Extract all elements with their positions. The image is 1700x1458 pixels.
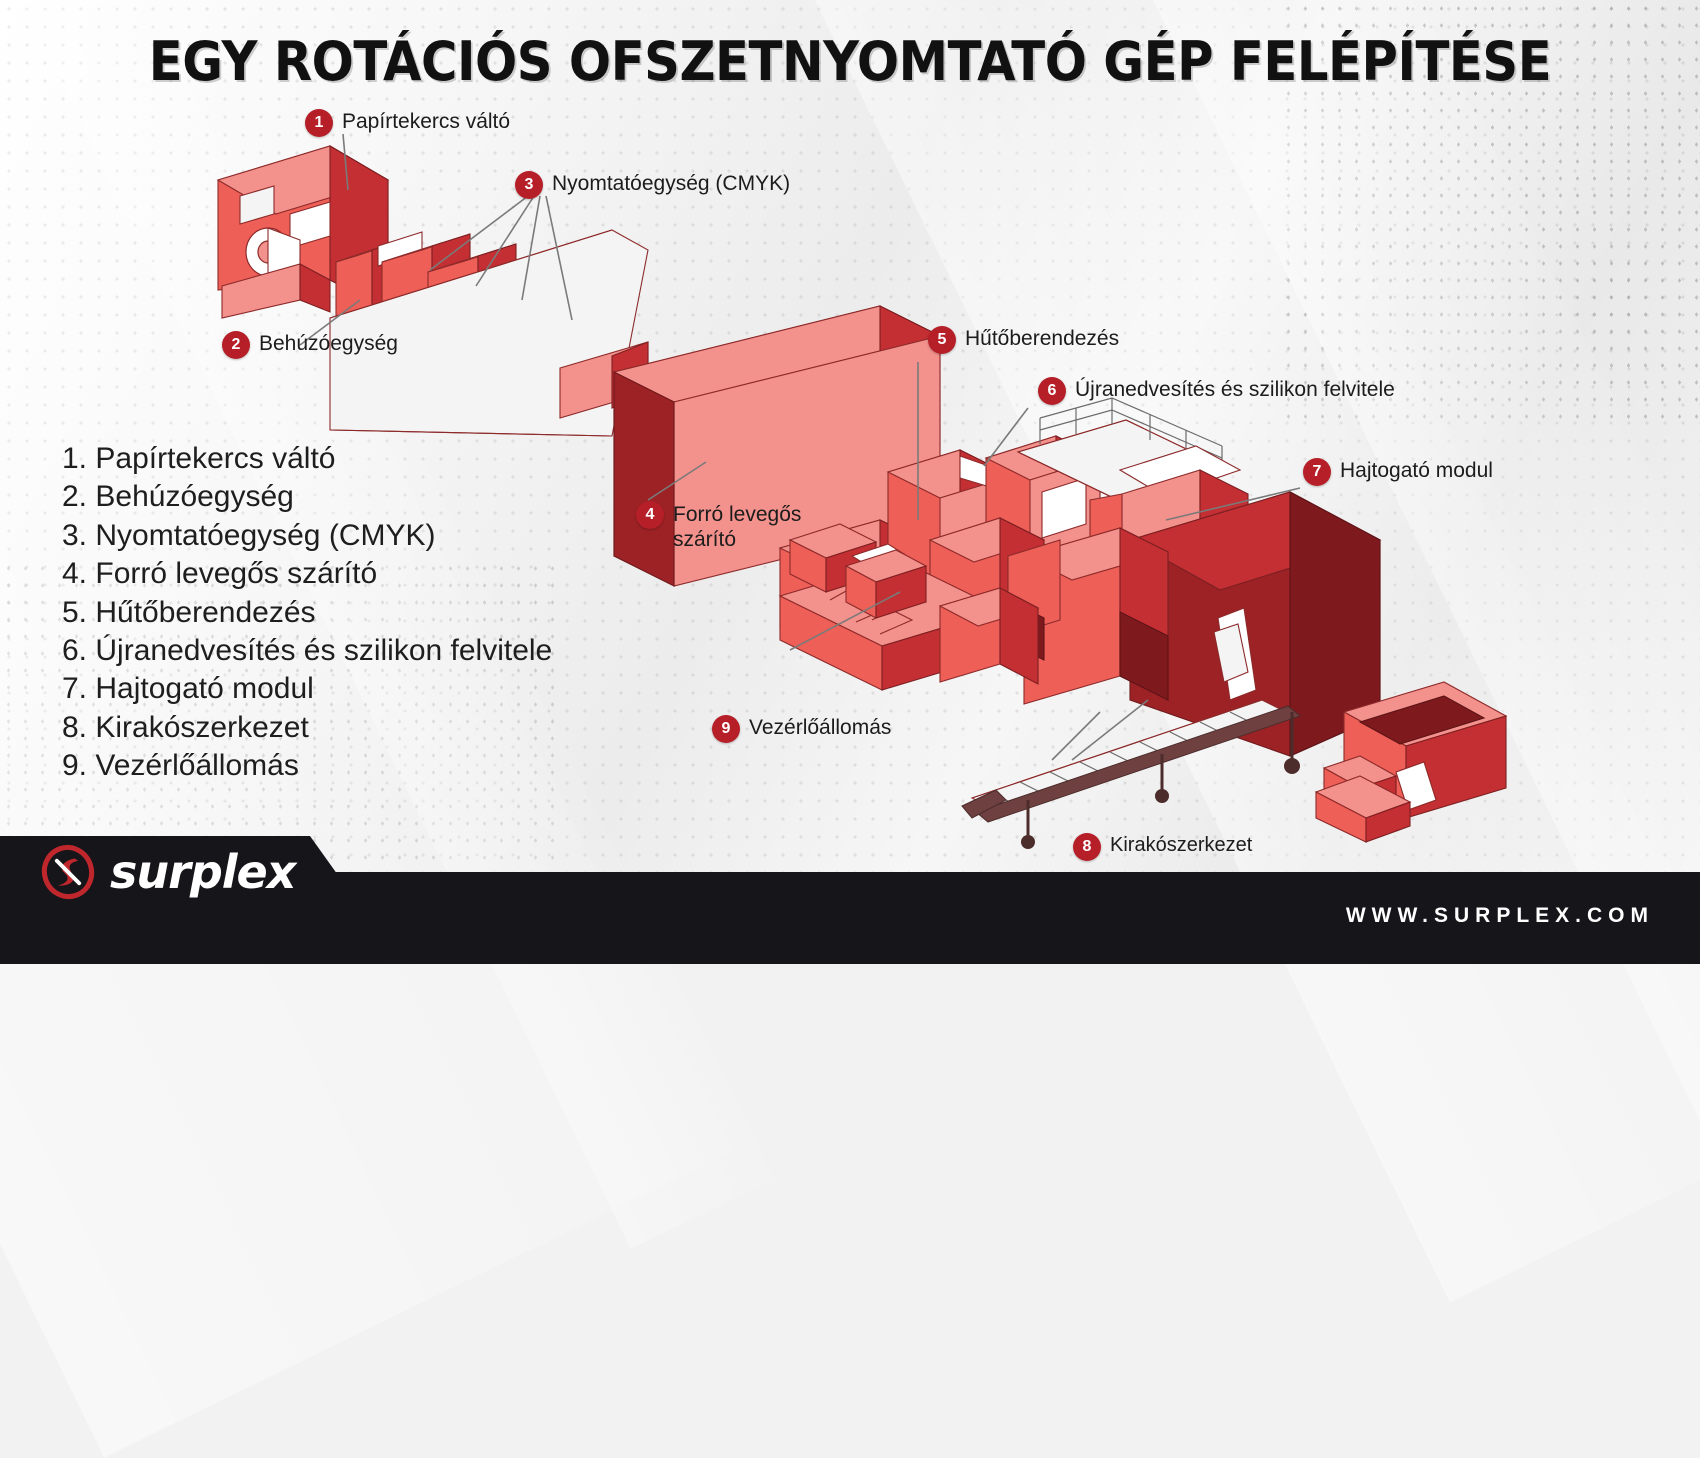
callout-1-label: Papírtekercs váltó xyxy=(342,108,510,134)
callout-3-label: Nyomtatóegység (CMYK) xyxy=(552,170,790,196)
callout-4-label: Forró levegős szárító xyxy=(673,500,833,552)
legend-item-5-label: Hűtőberendezés xyxy=(95,596,315,629)
callout-2-badge: 2 xyxy=(222,331,250,359)
legend-item-8: 8. Kirakószerkezet xyxy=(62,709,552,747)
brand-logo[interactable]: surplex xyxy=(40,844,295,900)
surplex-circle-icon xyxy=(40,844,96,900)
legend-item-7-number: 7. xyxy=(62,672,87,705)
callout-7-label: Hajtogató modul xyxy=(1340,457,1493,483)
callout-3-badge: 3 xyxy=(515,171,543,199)
callout-2-label: Behúzóegység xyxy=(259,330,398,356)
legend-item-4-label: Forró levegős szárító xyxy=(95,557,377,590)
callout-6: 6 Újranedvesítés és szilikon felvitele xyxy=(1038,376,1395,405)
legend-list: 1. Papírtekercs váltó 2. Behúzóegység 3.… xyxy=(62,440,552,786)
legend-item-3-number: 3. xyxy=(62,519,87,552)
legend-item-6-number: 6. xyxy=(62,634,87,667)
callout-3: 3 Nyomtatóegység (CMYK) xyxy=(515,170,790,199)
callout-1: 1 Papírtekercs váltó xyxy=(305,108,510,137)
page-footer: surplex WWW.SURPLEX.COM xyxy=(0,836,1700,964)
legend-item-9-number: 9. xyxy=(62,749,87,782)
legend-item-4: 4. Forró levegős szárító xyxy=(62,555,552,593)
legend-item-7-label: Hajtogató modul xyxy=(95,672,313,705)
callout-5-label: Hűtőberendezés xyxy=(965,325,1119,351)
legend-item-3-label: Nyomtatóegység (CMYK) xyxy=(95,519,435,552)
legend-item-6-label: Újranedvesítés és szilikon felvitele xyxy=(95,634,552,667)
legend-item-2-label: Behúzóegység xyxy=(95,480,294,513)
callout-4-badge: 4 xyxy=(636,501,664,529)
callout-5-badge: 5 xyxy=(928,326,956,354)
callout-5: 5 Hűtőberendezés xyxy=(928,325,1119,354)
legend-item-4-number: 4. xyxy=(62,557,87,590)
callout-7: 7 Hajtogató modul xyxy=(1303,457,1493,486)
legend-item-7: 7. Hajtogató modul xyxy=(62,670,552,708)
legend-item-8-label: Kirakószerkezet xyxy=(95,711,308,744)
legend-item-3: 3. Nyomtatóegység (CMYK) xyxy=(62,517,552,555)
legend-item-1-number: 1. xyxy=(62,442,87,475)
callout-7-badge: 7 xyxy=(1303,458,1331,486)
legend-item-1-label: Papírtekercs váltó xyxy=(95,442,335,475)
legend-item-6: 6. Újranedvesítés és szilikon felvitele xyxy=(62,632,552,670)
callout-9-badge: 9 xyxy=(712,715,740,743)
callout-9: 9 Vezérlőállomás xyxy=(712,714,891,743)
legend-item-2: 2. Behúzóegység xyxy=(62,478,552,516)
footer-website-url[interactable]: WWW.SURPLEX.COM xyxy=(1346,904,1654,928)
brand-name: surplex xyxy=(110,845,295,899)
callout-6-label: Újranedvesítés és szilikon felvitele xyxy=(1075,376,1395,402)
legend-item-9: 9. Vezérlőállomás xyxy=(62,747,552,785)
callout-6-badge: 6 xyxy=(1038,377,1066,405)
legend-item-2-number: 2. xyxy=(62,480,87,513)
legend-item-5-number: 5. xyxy=(62,596,87,629)
callout-9-label: Vezérlőállomás xyxy=(749,714,891,740)
callout-4: 4 Forró levegős szárító xyxy=(636,500,833,552)
legend-item-1: 1. Papírtekercs váltó xyxy=(62,440,552,478)
legend-item-5: 5. Hűtőberendezés xyxy=(62,594,552,632)
legend-item-9-label: Vezérlőállomás xyxy=(95,749,298,782)
callout-2: 2 Behúzóegység xyxy=(222,330,398,359)
legend-item-8-number: 8. xyxy=(62,711,87,744)
callout-1-badge: 1 xyxy=(305,109,333,137)
